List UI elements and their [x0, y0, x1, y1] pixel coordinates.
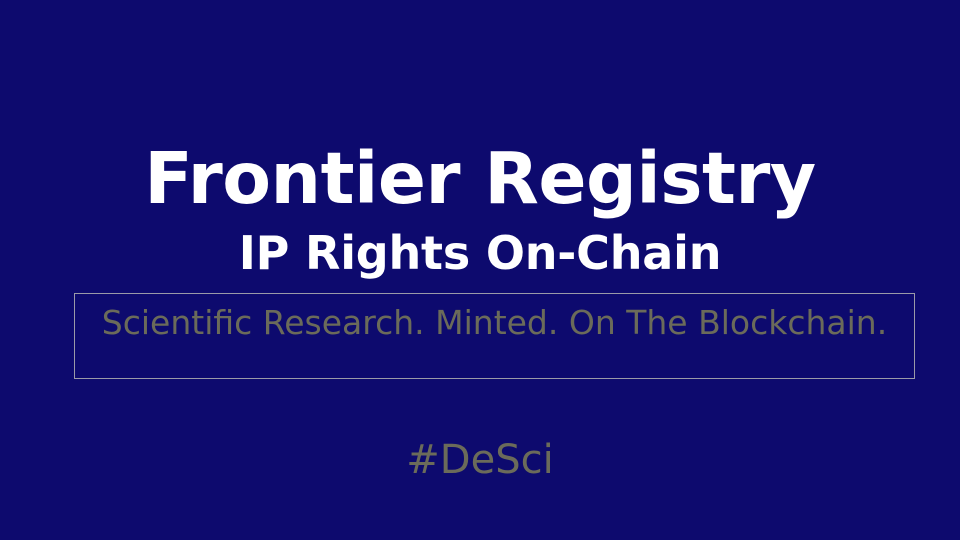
page-title: Frontier Registry — [0, 138, 960, 220]
tagline-box: Scientific Research. Minted. On The Bloc… — [74, 293, 915, 379]
hashtag-label: #DeSci — [0, 436, 960, 484]
tagline-text: Scientific Research. Minted. On The Bloc… — [75, 303, 914, 343]
page-subtitle: IP Rights On-Chain — [0, 225, 960, 281]
title-slide: Frontier Registry IP Rights On-Chain Sci… — [0, 0, 960, 540]
